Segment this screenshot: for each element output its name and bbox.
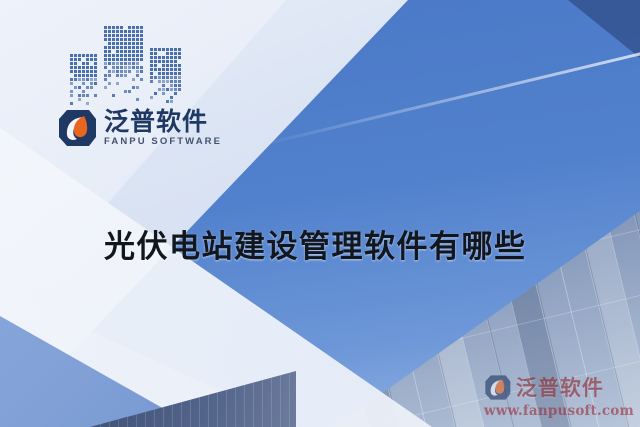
brand-logo: 泛普软件 FANPU SOFTWARE (57, 108, 222, 148)
banner-image: 泛普软件 FANPU SOFTWARE 光伏电站建设管理软件有哪些 泛普软件 w… (0, 0, 640, 427)
fanpu-logo-mark-icon (57, 108, 97, 148)
watermark-logo-mark-icon (484, 374, 511, 401)
watermark-url: www.fanpusoft.com (484, 403, 634, 419)
brand-name-en: FANPU SOFTWARE (104, 137, 222, 147)
watermark-brand-name: 泛普软件 (516, 372, 604, 402)
page-title: 光伏电站建设管理软件有哪些 (104, 221, 527, 266)
brand-name-cn: 泛普软件 (104, 109, 222, 134)
brand-wordmark: 泛普软件 FANPU SOFTWARE (104, 109, 222, 147)
dotted-skyline-graphic (70, 26, 182, 114)
watermark-logo-row: 泛普软件 (484, 372, 634, 402)
watermark: 泛普软件 www.fanpusoft.com (484, 372, 634, 419)
